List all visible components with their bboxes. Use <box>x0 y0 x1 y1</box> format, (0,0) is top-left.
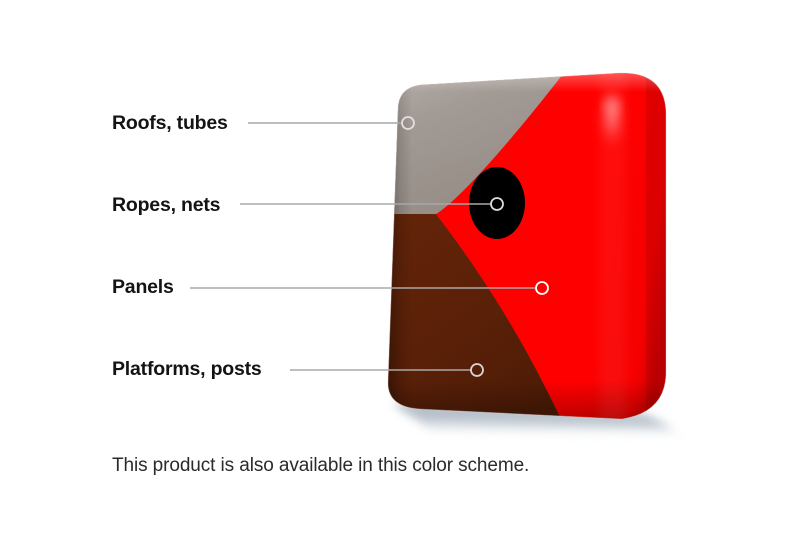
left-edge-shading <box>386 60 412 430</box>
screenshot-canvas: Roofs, tubes Ropes, nets Panels Platform… <box>0 0 800 533</box>
callout-label-ropes-nets: Ropes, nets <box>112 196 220 216</box>
product-body <box>380 60 690 432</box>
top-bevel-highlight <box>380 66 680 92</box>
footer-caption: This product is also available in this c… <box>112 455 529 477</box>
callout-label-roofs-tubes: Roofs, tubes <box>112 114 228 134</box>
black-circle-accent <box>469 167 525 239</box>
right-edge-shading <box>646 60 680 430</box>
callout-label-platforms-posts: Platforms, posts <box>112 360 262 380</box>
product-illustration <box>0 0 800 533</box>
red-face-sheen <box>600 60 626 430</box>
leader-roofs-tubes <box>248 117 414 129</box>
callout-label-panels: Panels <box>112 278 174 298</box>
